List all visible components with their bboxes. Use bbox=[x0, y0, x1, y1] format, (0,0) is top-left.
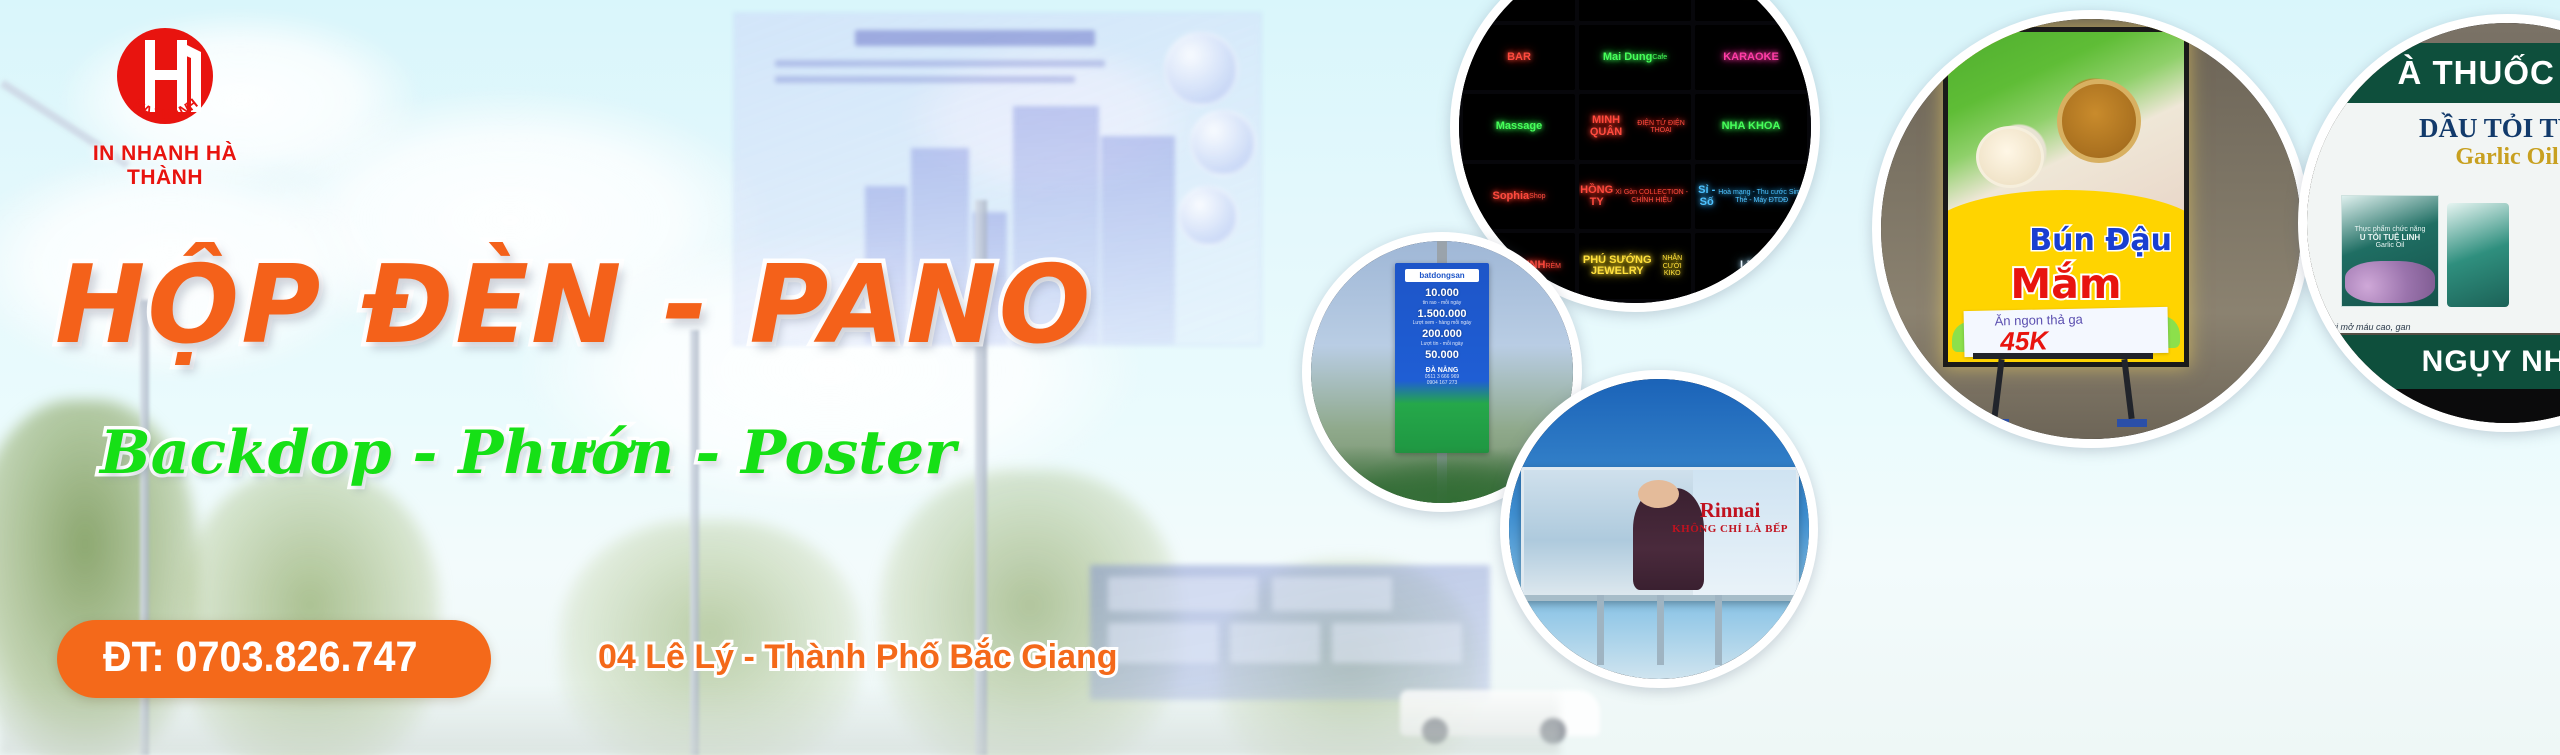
neon-sign: dio bbox=[1463, 0, 1575, 21]
logo-monogram-icon: HA THANH bbox=[105, 18, 225, 138]
neon-sign-label: Sỉ - Số bbox=[1696, 185, 1717, 208]
pack-title: U TỎI TUỆ LINH bbox=[2342, 233, 2438, 242]
street-name: NGỤY NHƯ bbox=[2422, 345, 2560, 379]
neon-sign-label: LED bbox=[1740, 260, 1762, 272]
neon-sign-sublabel: Cafe bbox=[1652, 54, 1667, 61]
billboard-orb bbox=[1178, 186, 1238, 246]
banner-value: 50.000 bbox=[1395, 350, 1489, 362]
neon-sign-label: Sophia bbox=[1492, 191, 1529, 203]
neon-sign-label: NHA KHOA bbox=[1722, 121, 1781, 133]
product-pack: Thực phẩm chức năng U TỎI TUỆ LINH Garli… bbox=[2341, 195, 2439, 307]
neon-sign: NHA KHOA bbox=[1695, 94, 1807, 160]
background-billboard-lower bbox=[1090, 565, 1490, 700]
banner-brand: batdongsan bbox=[1405, 269, 1479, 282]
banner-value: 1.500.000 bbox=[1395, 309, 1489, 321]
billboard-panel bbox=[1332, 623, 1462, 663]
banner-value: 200.000 bbox=[1395, 329, 1489, 341]
neon-sign: JuliaÁo cưới bbox=[1579, 0, 1691, 21]
product-bottle bbox=[2447, 203, 2509, 307]
billboard-panel bbox=[1108, 577, 1258, 611]
page-title: HỘP ĐÈN - PANO bbox=[55, 243, 1092, 368]
company-name: IN NHANH HÀ THÀNH bbox=[60, 142, 270, 190]
neon-sign-label: HỒNG TY bbox=[1580, 185, 1613, 208]
tower-shape bbox=[1101, 136, 1175, 344]
neon-sign-label: PHÚ SƯỚNG JEWELRY bbox=[1580, 255, 1654, 278]
photo-circle-rinnai-billboard: Rinnai KHÔNG CHỈ LÀ BẾP bbox=[1500, 370, 1818, 688]
dark-strip bbox=[2307, 389, 2560, 423]
billboard-text-line bbox=[775, 76, 1075, 83]
phone-badge[interactable]: ĐT: 0703.826.747 bbox=[57, 620, 491, 698]
pole-banner-artwork: batdongsan 10.000 tin rao - mỗi ngày 1.5… bbox=[1395, 263, 1489, 453]
neon-sign: Mai DungCafe bbox=[1579, 25, 1691, 91]
garlic-image bbox=[2345, 261, 2435, 303]
photo-circle-pharmacy-sign: À THUỐC HỒ DẦU TỎI TUỆ Garlic Oil Thực p… bbox=[2298, 14, 2560, 432]
address-text: 04 Lê Lý - Thành Phố Bắc Giang bbox=[598, 638, 1118, 677]
pharmacy-top-banner: À THUỐC HỒ bbox=[2307, 43, 2560, 103]
price-tag: Ăn ngon thả ga 45K bbox=[1964, 307, 2169, 357]
product-images: Thực phẩm chức năng U TỎI TUỆ LINH Garli… bbox=[2341, 195, 2509, 307]
neon-sign-label: KARAOKE bbox=[1723, 52, 1779, 64]
banner-caption: Lượt tin - mỗi ngày bbox=[1395, 341, 1489, 347]
pharmacy-scene: À THUỐC HỒ DẦU TỎI TUỆ Garlic Oil Thực p… bbox=[2307, 23, 2560, 423]
billboard-orb bbox=[1164, 32, 1238, 106]
neon-sign: HỒNG TYXì Gòn COLLECTION - CHÍNH HIỆU bbox=[1579, 164, 1691, 230]
rinnai-sky: Rinnai KHÔNG CHỈ LÀ BẾP bbox=[1509, 379, 1809, 679]
banner-caption: Lượt xem - hàng mỗi ngày bbox=[1395, 320, 1489, 326]
photo-circle-bundau-lightbox: Bún Đậu Mắm Tôm Ăn ngon thả ga 45K bbox=[1872, 10, 2310, 448]
neon-sign-sublabel: Hoà mạng - Thu cước Sim - Thẻ - Máy ĐTDĐ bbox=[1717, 189, 1806, 204]
neon-sign-sublabel: Xì Gòn COLLECTION - CHÍNH HIỆU bbox=[1613, 189, 1690, 204]
neon-sign-sublabel: Shop bbox=[1529, 193, 1545, 200]
banner-phone: 0904 167 273 bbox=[1395, 380, 1489, 386]
pack-sub: Garlic Oil bbox=[2376, 242, 2405, 249]
neon-sign: Massage bbox=[1463, 94, 1575, 160]
billboard-text-line bbox=[775, 60, 1105, 67]
sauce-bowl bbox=[2057, 79, 2141, 163]
neon-sign: SophiaShop bbox=[1463, 164, 1575, 230]
pack-note: Thực phẩm chức năng bbox=[2355, 226, 2426, 233]
neon-sign-sublabel: NHẪN CƯỚI KIKO bbox=[1654, 255, 1690, 277]
phone-number: ĐT: 0703.826.747 bbox=[103, 633, 418, 682]
rinnai-brand-block: Rinnai KHÔNG CHỈ LÀ BẾP bbox=[1672, 498, 1788, 535]
neon-sign: BAR bbox=[1463, 25, 1575, 91]
neon-sign: KARAOKE bbox=[1695, 25, 1807, 91]
pharmacy-bottom-banner: NGỤY NHƯ bbox=[2307, 335, 2560, 389]
neon-sign: Jewelry bbox=[1695, 0, 1807, 21]
billboard-legs bbox=[1569, 595, 1749, 665]
bundau-scene: Bún Đậu Mắm Tôm Ăn ngon thả ga 45K bbox=[1881, 19, 2301, 439]
rinnai-brand: Rinnai bbox=[1672, 498, 1788, 523]
billboard-panel bbox=[1272, 577, 1392, 611]
food-photo bbox=[1948, 32, 2184, 214]
food-plate bbox=[1976, 126, 2044, 188]
neon-sign-sublabel: ĐIỆN TỬ ĐIỆN THOẠI bbox=[1632, 120, 1690, 135]
billboard-orb bbox=[1190, 110, 1256, 176]
neon-sign-label: BAR bbox=[1507, 52, 1531, 64]
billboard-panel bbox=[1108, 623, 1218, 663]
billboard-panel bbox=[1230, 623, 1320, 663]
pharmacy-poster: DẦU TỎI TUỆ Garlic Oil Thực phẩm chức nă… bbox=[2307, 103, 2560, 333]
description-line: u trị mở máu cao, gan bbox=[2323, 321, 2560, 335]
neon-sign: LED bbox=[1695, 233, 1807, 299]
product-heading: DẦU TỎI TUỆ bbox=[2307, 113, 2560, 144]
neon-sign: PHÚ SƯỚNG JEWELRYNHẪN CƯỚI KIKO bbox=[1579, 233, 1691, 299]
product-subheading: Garlic Oil bbox=[2307, 144, 2560, 171]
neon-sign: Sỉ - SốHoà mạng - Thu cước Sim - Thẻ - M… bbox=[1695, 164, 1807, 230]
bundau-line1: Bún Đậu bbox=[2029, 223, 2172, 258]
lightbox-stand bbox=[1973, 353, 2153, 427]
neon-sign: MINH QUÂNĐIỆN TỬ ĐIỆN THOẠI bbox=[1579, 94, 1691, 160]
rinnai-billboard-face: Rinnai KHÔNG CHỈ LÀ BẾP bbox=[1521, 467, 1799, 601]
rinnai-slogan: KHÔNG CHỈ LÀ BẾP bbox=[1672, 523, 1788, 535]
neon-sign-label: Massage bbox=[1496, 121, 1542, 133]
company-logo: HA THANH IN NHANH HÀ THÀNH bbox=[60, 18, 270, 190]
advertising-banner: HA THANH IN NHANH HÀ THÀNH HỘP ĐÈN - PAN… bbox=[0, 0, 2560, 755]
neon-sign-label: Mai Dung bbox=[1603, 52, 1653, 64]
pharmacy-name: À THUỐC HỒ bbox=[2398, 54, 2560, 92]
page-subtitle: Backdop - Phướn - Poster bbox=[100, 418, 956, 488]
neon-sign-label: MINH QUÂN bbox=[1580, 115, 1632, 138]
banner-caption: tin rao - mỗi ngày bbox=[1395, 300, 1489, 306]
banner-city: ĐÀ NẴNG bbox=[1395, 367, 1489, 374]
banner-value: 10.000 bbox=[1395, 288, 1489, 300]
billboard-title-bar bbox=[855, 30, 1095, 46]
bundau-lightbox-face: Bún Đậu Mắm Tôm Ăn ngon thả ga 45K bbox=[1943, 27, 2189, 367]
